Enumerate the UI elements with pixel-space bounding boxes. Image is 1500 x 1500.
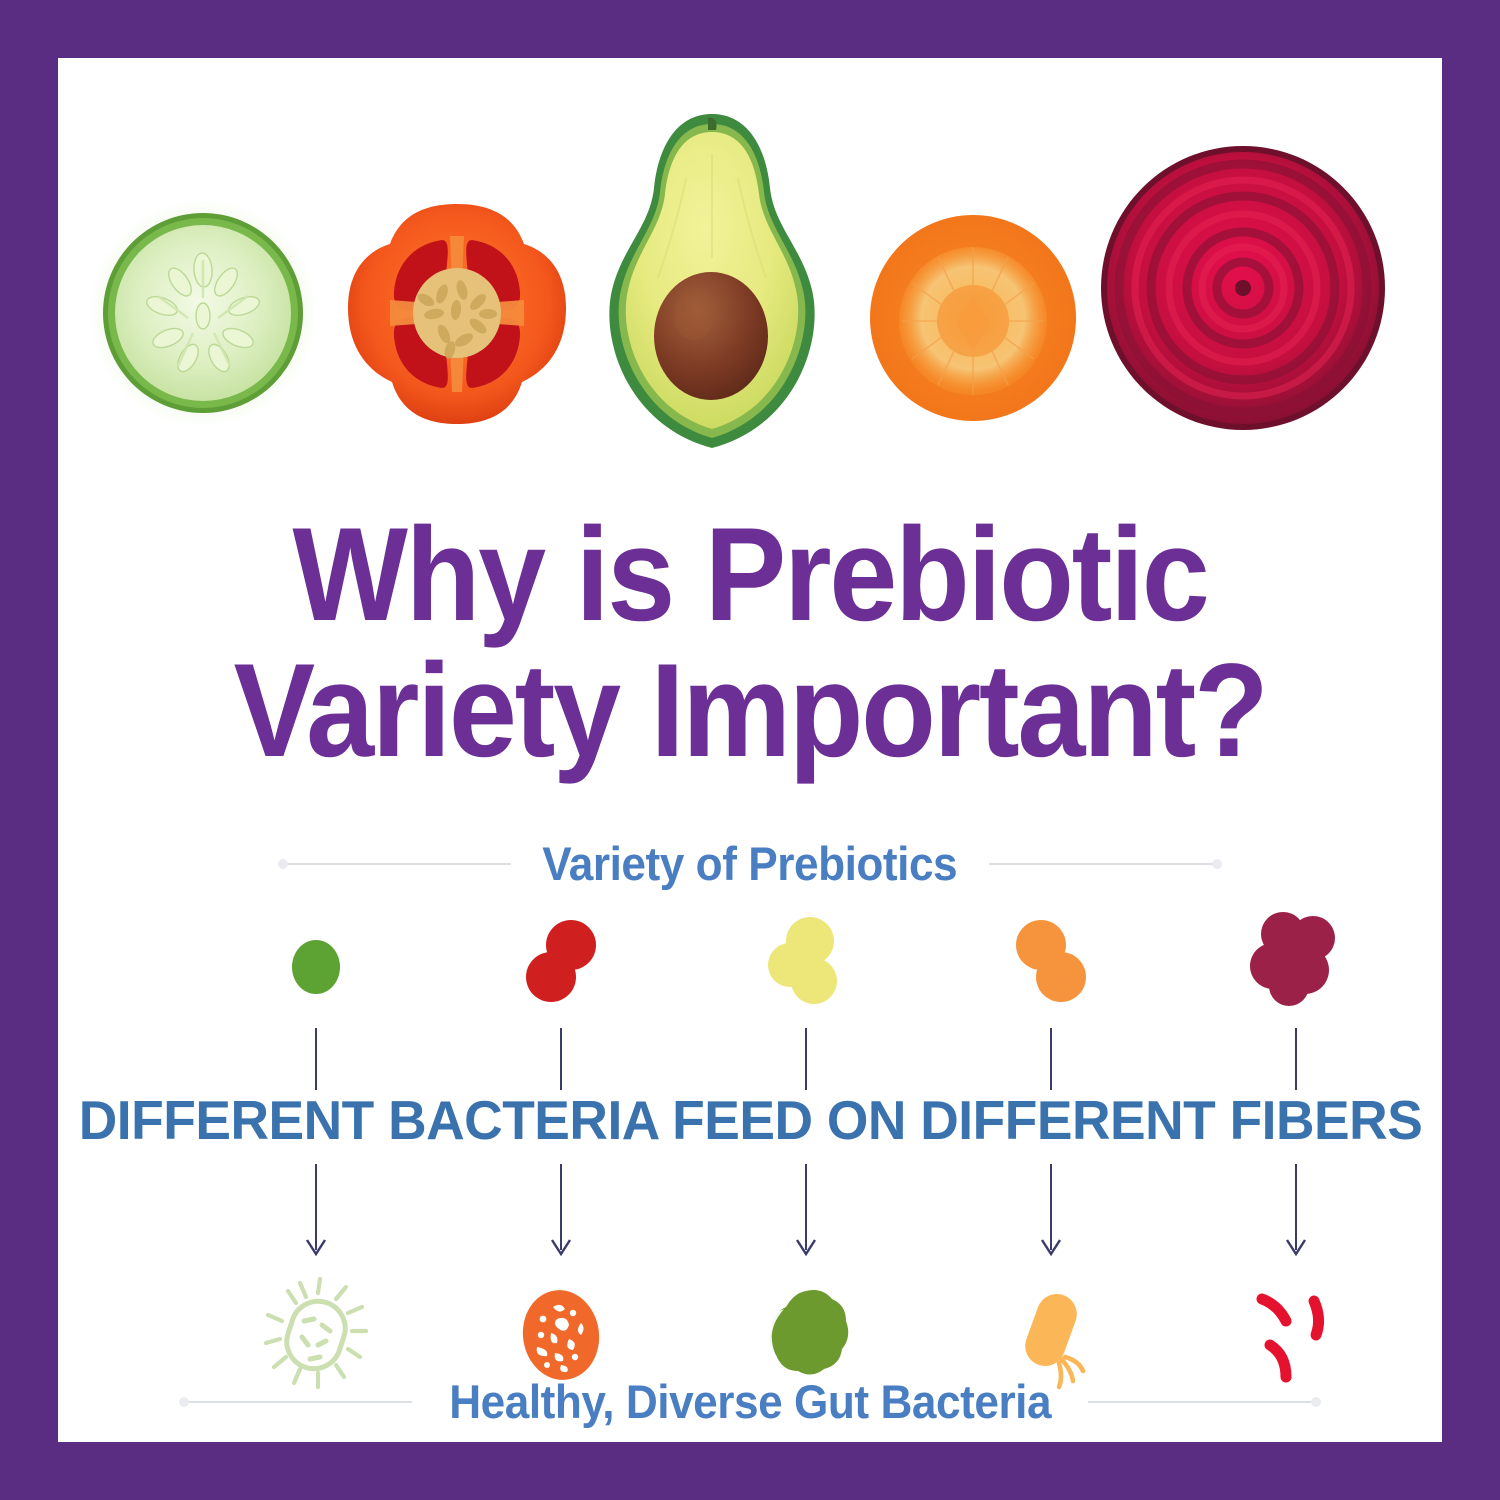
poster-canvas: Why is Prebiotic Variety Important? Vari… [58,58,1442,1442]
rule-dot-icon [179,1397,189,1407]
fiber-orange-icon [941,898,1161,1028]
arrow-down-5 [1186,1164,1406,1274]
infographic-poster: Why is Prebiotic Variety Important? Vari… [0,0,1500,1500]
red-bell-pepper-image [338,196,576,432]
middle-banner-text: DIFFERENT BACTERIA FEED ON DIFFERENT FIB… [79,1088,1421,1152]
arrow-down-2 [451,1164,671,1274]
band-rule-right [1088,1401,1320,1403]
fiber-green-icon [206,898,426,1028]
rule-dot-icon [1311,1397,1321,1407]
page-title: Why is Prebiotic Variety Important? [113,508,1386,779]
fiber-yellow-icon [696,898,916,1028]
vegetable-row [58,108,1442,508]
beet-slice-image [1098,143,1388,433]
band-rule-left [180,1401,412,1403]
fiber-maroon-icon [1186,898,1406,1028]
cucumber-slice-image [88,198,318,428]
band-rule-right [989,863,1221,865]
band-rule-left [279,863,511,865]
band-bottom-label: Healthy, Diverse Gut Bacteria [432,1374,1068,1429]
carrot-slice-image [868,213,1078,423]
rule-dot-icon [278,859,288,869]
band-healthy-diverse-gut-bacteria: Healthy, Diverse Gut Bacteria [58,1374,1442,1429]
arrow-down-4 [941,1164,1161,1274]
arrow-down-1 [206,1164,426,1274]
band-variety-of-prebiotics: Variety of Prebiotics [58,836,1442,891]
avocado-half-image [598,108,828,454]
arrow-down-3 [696,1164,916,1274]
band-top-label: Variety of Prebiotics [526,836,975,891]
rule-dot-icon [1212,859,1222,869]
fiber-red-icon [451,898,671,1028]
